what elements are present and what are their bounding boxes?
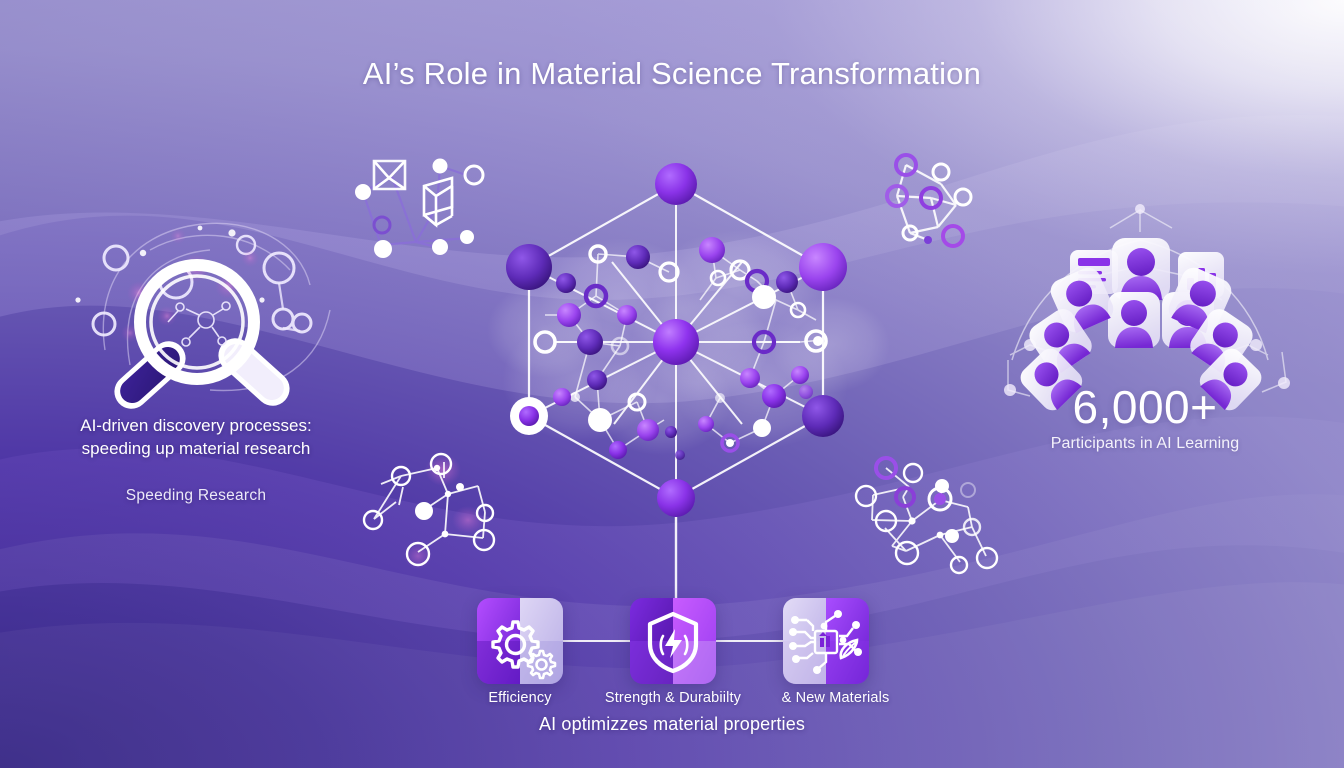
tile-label-materials: & New Materials <box>748 690 923 706</box>
tile-labels-row: Efficiency Strength & Durabiilty & New M… <box>0 690 1344 712</box>
hex-node-topleft <box>506 244 552 290</box>
document-card <box>1070 250 1118 294</box>
avatar-card <box>1108 292 1160 348</box>
hex-hub-node <box>653 319 699 365</box>
avatar-card <box>1025 304 1097 377</box>
shield-bolt-icon <box>630 598 716 684</box>
avatar-card <box>1112 238 1170 300</box>
hex-node-topright <box>799 243 847 291</box>
hex-node-bottomright <box>802 395 844 437</box>
avatar-card <box>1047 264 1117 336</box>
page-title: AI’s Role in Material Science Transforma… <box>0 56 1344 92</box>
participants-label: Participants in AI Learning <box>995 435 1295 453</box>
infographic-canvas: AI’s Role in Material Science Transforma… <box>0 0 1344 768</box>
property-tiles-row <box>0 598 1344 694</box>
left-caption-body: AI-driven discovery processes: speeding … <box>80 414 312 461</box>
avatar-card <box>1186 304 1258 377</box>
gears-icon <box>477 598 563 684</box>
molecule-bottomright <box>856 458 997 573</box>
left-caption-subtitle: Speeding Research <box>80 487 312 505</box>
left-caption-block: AI-driven discovery processes: speeding … <box>80 414 312 505</box>
avatar-card <box>1162 292 1214 348</box>
molecule-bottomleft <box>364 454 494 569</box>
tile-strength-durability[interactable] <box>630 598 716 684</box>
hex-node-top <box>655 163 697 205</box>
tile-label-strength: Strength & Durabiilty <box>578 690 768 706</box>
avatar-card <box>1165 264 1235 336</box>
participants-count: 6,000+ <box>995 383 1295 431</box>
ring-molecule-topright <box>887 155 971 246</box>
tile-efficiency[interactable] <box>477 598 563 684</box>
circuit-leaf-icon <box>783 598 869 684</box>
tile-label-efficiency: Efficiency <box>440 690 600 706</box>
crystal-lattice-topleft <box>355 159 483 259</box>
chart-card <box>1178 252 1224 298</box>
hex-node-bottomleft <box>510 397 548 435</box>
bottom-caption: AI optimizzes material properties <box>0 714 1344 735</box>
hex-node-bottom <box>657 479 695 517</box>
tile-new-materials[interactable] <box>783 598 869 684</box>
participants-stat-block: 6,000+ Participants in AI Learning <box>995 383 1295 453</box>
